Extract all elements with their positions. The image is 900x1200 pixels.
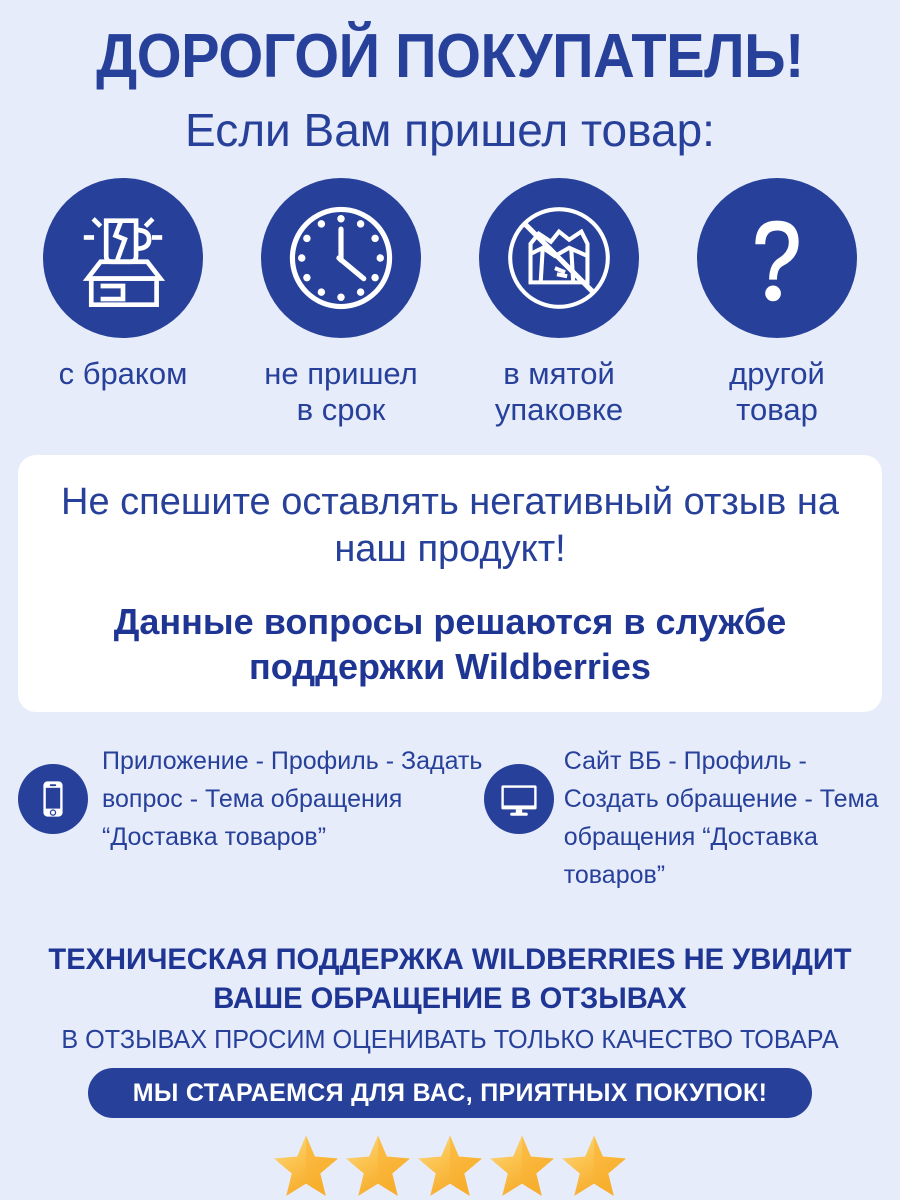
instruction-app: Приложение - Профиль - Задать вопрос - Т… bbox=[18, 742, 484, 894]
smartphone-icon bbox=[29, 775, 77, 823]
star-icon bbox=[272, 1133, 340, 1199]
page-title: ДОРОГОЙ ПОКУПАТЕЛЬ! bbox=[32, 22, 869, 92]
reason-icon-circle bbox=[697, 178, 857, 338]
star-icon bbox=[344, 1133, 412, 1199]
star-icon bbox=[560, 1133, 628, 1199]
cta-button[interactable]: МЫ СТАРАЕМСЯ ДЛЯ ВАС, ПРИЯТНЫХ ПОКУПОК! bbox=[88, 1068, 812, 1118]
star-icon bbox=[488, 1133, 556, 1199]
instructions-row: Приложение - Профиль - Задать вопрос - Т… bbox=[0, 742, 900, 894]
instruction-text: Приложение - Профиль - Задать вопрос - Т… bbox=[102, 742, 484, 856]
instruction-icon-circle bbox=[18, 764, 88, 834]
reason-label: в мятой упаковке bbox=[495, 356, 623, 428]
desktop-monitor-icon bbox=[495, 775, 543, 823]
question-mark-icon bbox=[718, 199, 836, 317]
instruction-site: Сайт ВБ - Профиль - Создать обращение - … bbox=[484, 742, 890, 894]
reason-item-wrong: другой товар bbox=[682, 178, 872, 428]
support-notice-bold: ТЕХНИЧЕСКАЯ ПОДДЕРЖКА WILDBERRIES НЕ УВИ… bbox=[14, 940, 887, 1018]
notice-card: Не спешите оставлять негативный отзыв на… bbox=[18, 455, 882, 712]
reason-label: не пришел в срок bbox=[264, 356, 418, 428]
reasons-row: с браком bbox=[0, 178, 900, 428]
no-crumpled-package-icon bbox=[498, 197, 620, 319]
reason-icon-circle bbox=[43, 178, 203, 338]
broken-cup-in-box-icon bbox=[67, 202, 179, 314]
reason-label: с браком bbox=[59, 356, 188, 392]
support-notice-regular: В ОТЗЫВАХ ПРОСИМ ОЦЕНИВАТЬ ТОЛЬКО КАЧЕСТ… bbox=[14, 1023, 887, 1055]
reason-item-crumpled: в мятой упаковке bbox=[464, 178, 654, 428]
instruction-icon-circle bbox=[484, 764, 554, 834]
clock-icon bbox=[279, 196, 403, 320]
reason-item-late: не пришел в срок bbox=[246, 178, 436, 428]
notice-card-secondary-text: Данные вопросы решаются в службе поддерж… bbox=[48, 599, 852, 689]
instruction-text: Сайт ВБ - Профиль - Создать обращение - … bbox=[564, 742, 890, 894]
reason-label: другой товар bbox=[729, 356, 825, 428]
reason-item-defect: с браком bbox=[28, 178, 218, 428]
promo-banner: ДОРОГОЙ ПОКУПАТЕЛЬ! Если Вам пришел това… bbox=[0, 0, 900, 1200]
notice-card-primary-text: Не спешите оставлять негативный отзыв на… bbox=[48, 479, 852, 573]
reason-icon-circle bbox=[261, 178, 421, 338]
page-subtitle: Если Вам пришел товар: bbox=[0, 103, 900, 157]
rating-stars bbox=[0, 1133, 900, 1199]
star-icon bbox=[416, 1133, 484, 1199]
reason-icon-circle bbox=[479, 178, 639, 338]
